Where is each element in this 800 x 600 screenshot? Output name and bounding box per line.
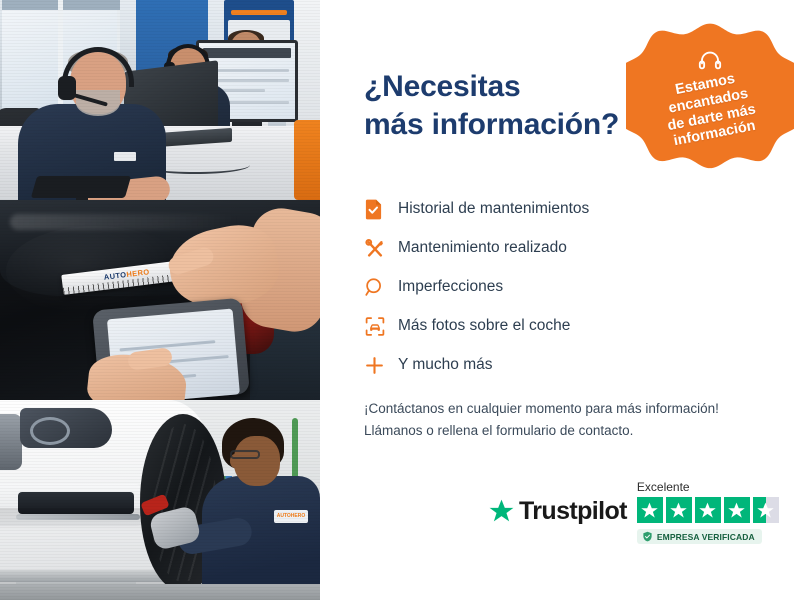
photo-call-center-agents — [0, 0, 320, 200]
lift-platform-decor — [0, 570, 180, 582]
photo-vehicle-inspection: AUTOHERO — [0, 200, 320, 400]
trustpilot-widget[interactable]: Trustpilot Excelente — [488, 478, 779, 544]
headline-line-1: ¿Necesitas — [364, 70, 520, 103]
magnifier-icon — [364, 273, 398, 303]
contact-paragraph: ¡Contáctanos en cualquier momento para m… — [364, 398, 784, 442]
photo-mechanic-wheel-service: AUTOHERO — [0, 400, 320, 600]
tablet-on-desk-decor — [31, 176, 131, 198]
star-filled — [666, 497, 692, 523]
orange-chair-decor — [294, 120, 320, 200]
feature-label: Historial de mantenimientos — [398, 200, 589, 219]
plus-icon — [364, 351, 398, 381]
feature-item-imperfections: Imperfecciones — [364, 268, 764, 307]
feature-item-maintenance-history: Historial de mantenimientos — [364, 190, 764, 229]
feature-item-more-photos: Más fotos sobre el coche — [364, 307, 764, 346]
uniform-logo-label: AUTOHERO — [277, 513, 306, 519]
contact-line-1: ¡Contáctanos en cualquier momento para m… — [364, 401, 719, 416]
contact-line-2: Llámanos o rellena el formulario de cont… — [364, 423, 633, 438]
feature-label: Y mucho más — [398, 356, 492, 375]
trustpilot-rating: Excelente — [637, 478, 779, 544]
verified-shield-icon — [642, 531, 653, 542]
feature-item-maintenance-done: Mantenimiento realizado — [364, 229, 764, 268]
star-filled — [724, 497, 750, 523]
star-rating — [637, 497, 779, 523]
feature-label: Mantenimiento realizado — [398, 239, 567, 258]
image-gallery-column: AUTOHERO — [0, 0, 320, 600]
headline-line-2: más información? — [364, 108, 619, 141]
trustpilot-logo: Trustpilot — [488, 497, 627, 526]
verified-company-label: EMPRESA VERIFICADA — [657, 532, 755, 542]
page-title: ¿Necesitas más información? — [364, 68, 664, 144]
feature-label: Imperfecciones — [398, 278, 503, 297]
star-half — [753, 497, 779, 523]
car-scan-icon — [364, 312, 398, 342]
star-filled — [695, 497, 721, 523]
mechanic-decor: AUTOHERO — [196, 418, 320, 600]
headset-icon — [697, 48, 723, 74]
verified-company-badge: EMPRESA VERIFICADA — [637, 529, 762, 544]
trustpilot-wordmark: Trustpilot — [519, 497, 627, 526]
feature-item-much-more: Y mucho más — [364, 346, 764, 385]
feature-label: Más fotos sobre el coche — [398, 317, 570, 336]
tools-cross-icon — [364, 234, 398, 264]
star-filled — [637, 497, 663, 523]
content-column: Estamos encantados de darte más informac… — [320, 0, 800, 600]
trustpilot-star-icon — [488, 498, 515, 525]
promo-card: AUTOHERO — [0, 0, 800, 600]
feature-list: Historial de mantenimientos Mantenimient… — [364, 190, 764, 385]
document-check-icon — [364, 195, 398, 225]
rating-label: Excelente — [637, 480, 690, 494]
